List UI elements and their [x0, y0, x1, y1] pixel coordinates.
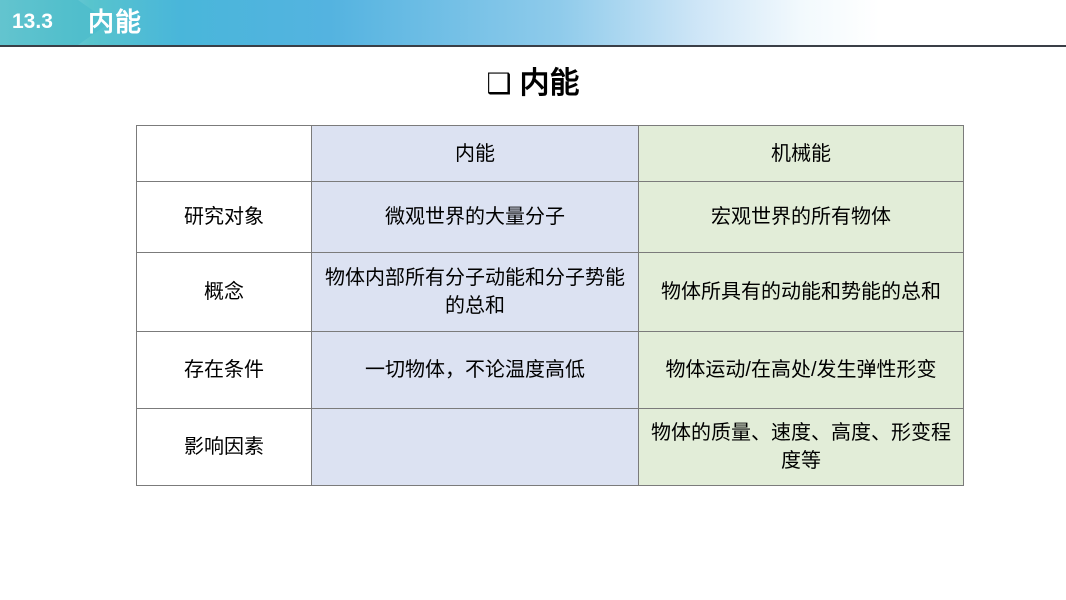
page-title-text: 内能	[520, 67, 580, 100]
cell-inner-energy-research-object: 微观世界的大量分子	[312, 182, 639, 253]
table-header-cell-mechanical-energy: 机械能	[639, 126, 964, 182]
table-header-row: 内能 机械能	[137, 126, 964, 182]
row-label-research-object: 研究对象	[137, 182, 312, 253]
cell-mechanical-energy-influencing-factors: 物体的质量、速度、高度、形变程度等	[639, 409, 964, 486]
row-label-influencing-factors: 影响因素	[137, 409, 312, 486]
hollow-square-bullet-icon: ❑	[486, 68, 511, 99]
cell-inner-energy-concept: 物体内部所有分子动能和分子势能的总和	[312, 253, 639, 332]
table-row: 存在条件 一切物体，不论温度高低 物体运动/在高处/发生弹性形变	[137, 332, 964, 409]
cell-mechanical-energy-concept: 物体所具有的动能和势能的总和	[639, 253, 964, 332]
banner-gradient-background	[0, 0, 1066, 45]
cell-inner-energy-influencing-factors	[312, 409, 639, 486]
row-label-concept: 概念	[137, 253, 312, 332]
cell-mechanical-energy-research-object: 宏观世界的所有物体	[639, 182, 964, 253]
section-number: 13.3	[12, 8, 53, 36]
cell-mechanical-energy-existence-condition: 物体运动/在高处/发生弹性形变	[639, 332, 964, 409]
table-header-cell-inner-energy: 内能	[312, 126, 639, 182]
table-row: 研究对象 微观世界的大量分子 宏观世界的所有物体	[137, 182, 964, 253]
banner-divider-rule	[0, 45, 1066, 47]
table-header-cell-blank	[137, 126, 312, 182]
cell-inner-energy-existence-condition: 一切物体，不论温度高低	[312, 332, 639, 409]
table-row: 影响因素 物体的质量、速度、高度、形变程度等	[137, 409, 964, 486]
row-label-existence-condition: 存在条件	[137, 332, 312, 409]
section-title: 内能	[88, 5, 142, 39]
section-banner: 13.3 内能	[0, 0, 1066, 45]
energy-comparison-table: 内能 机械能 研究对象 微观世界的大量分子 宏观世界的所有物体 概念 物体内部所…	[136, 125, 964, 486]
page-title: ❑内能	[0, 64, 1066, 104]
table-row: 概念 物体内部所有分子动能和分子势能的总和 物体所具有的动能和势能的总和	[137, 253, 964, 332]
